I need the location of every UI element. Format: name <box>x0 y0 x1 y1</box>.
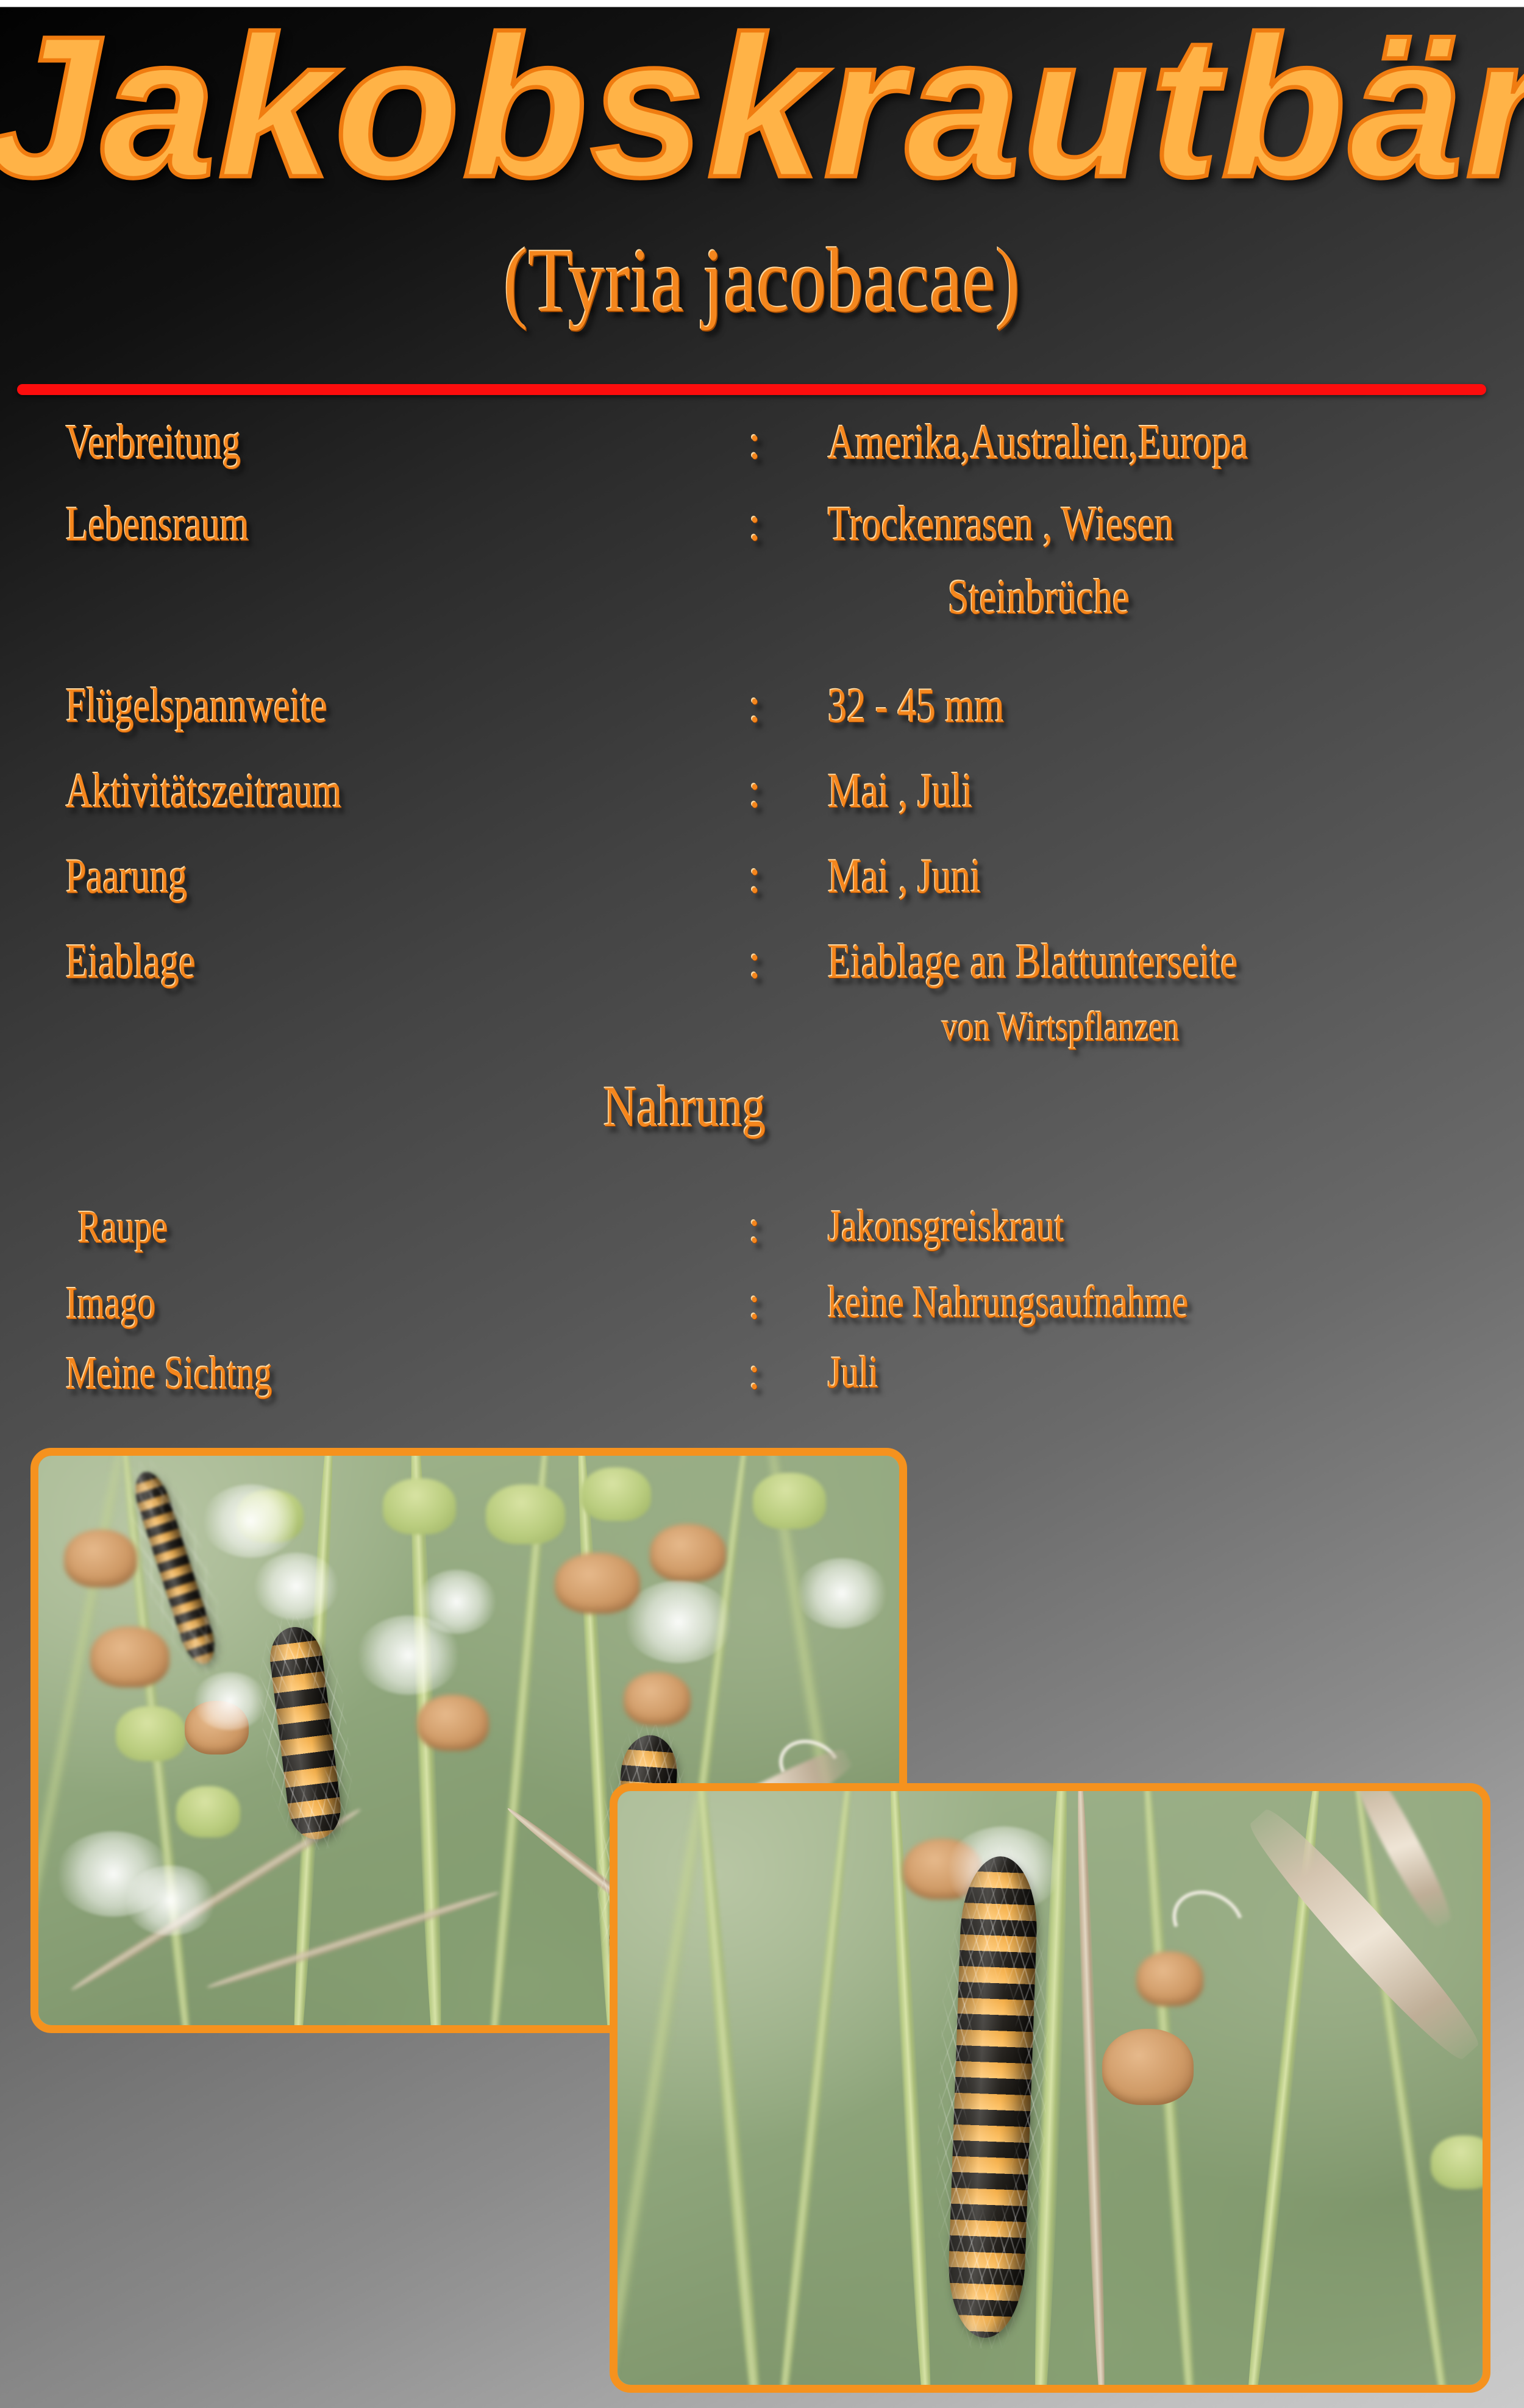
row-value: 32 - 45 mm <box>828 682 1004 730</box>
photo-caterpillar-closeup <box>610 1783 1490 2393</box>
row-label: Meine Sichtng <box>66 1350 272 1397</box>
macro-scene <box>618 1791 1483 2385</box>
row-label: Paarung <box>66 852 187 901</box>
row-value-line2: von Wirtspflanzen <box>942 1006 1180 1047</box>
row-value-line2: Steinbrüche <box>948 573 1130 622</box>
row-separator: : <box>749 682 761 730</box>
section-heading-nahrung: Nahrung <box>604 1078 766 1136</box>
row-label: Verbreitung <box>66 418 241 467</box>
row-separator: : <box>749 852 761 901</box>
row-value: keine Nahrungsaufnahme <box>828 1280 1188 1325</box>
row-separator: : <box>749 938 761 986</box>
row-label: Lebensraum <box>66 500 249 549</box>
page-title: Jakobskrautbär <box>0 6 1524 207</box>
row-value: Mai , Juli <box>828 767 972 816</box>
row-label: Aktivitätszeitraum <box>66 767 341 816</box>
row-separator: : <box>749 418 761 467</box>
row-separator: : <box>749 767 761 816</box>
row-label: Raupe <box>78 1204 168 1250</box>
row-value: Trockenrasen , Wiesen <box>828 500 1174 549</box>
row-separator: : <box>749 1350 760 1397</box>
row-value: Amerika,Australien,Europa <box>828 418 1248 467</box>
row-label: Eiablage <box>66 938 196 986</box>
photo-content <box>618 1791 1483 2385</box>
row-separator: : <box>749 1204 760 1250</box>
poster: Jakobskrautbär (Tyria jacobacae) Verbrei… <box>0 0 1524 2408</box>
row-label: Flügelspannweite <box>66 682 327 730</box>
row-separator: : <box>749 1280 760 1327</box>
row-value: Mai , Juni <box>828 852 981 901</box>
row-value: Juli <box>828 1350 878 1395</box>
scientific-name-subtitle: (Tyria jacobacae) <box>152 235 1372 326</box>
row-label: Imago <box>66 1280 156 1327</box>
row-value: Jakonsgreiskraut <box>828 1204 1064 1249</box>
row-value: Eiablage an Blattunterseite <box>828 938 1237 986</box>
row-separator: : <box>749 500 761 549</box>
red-divider <box>17 384 1486 395</box>
